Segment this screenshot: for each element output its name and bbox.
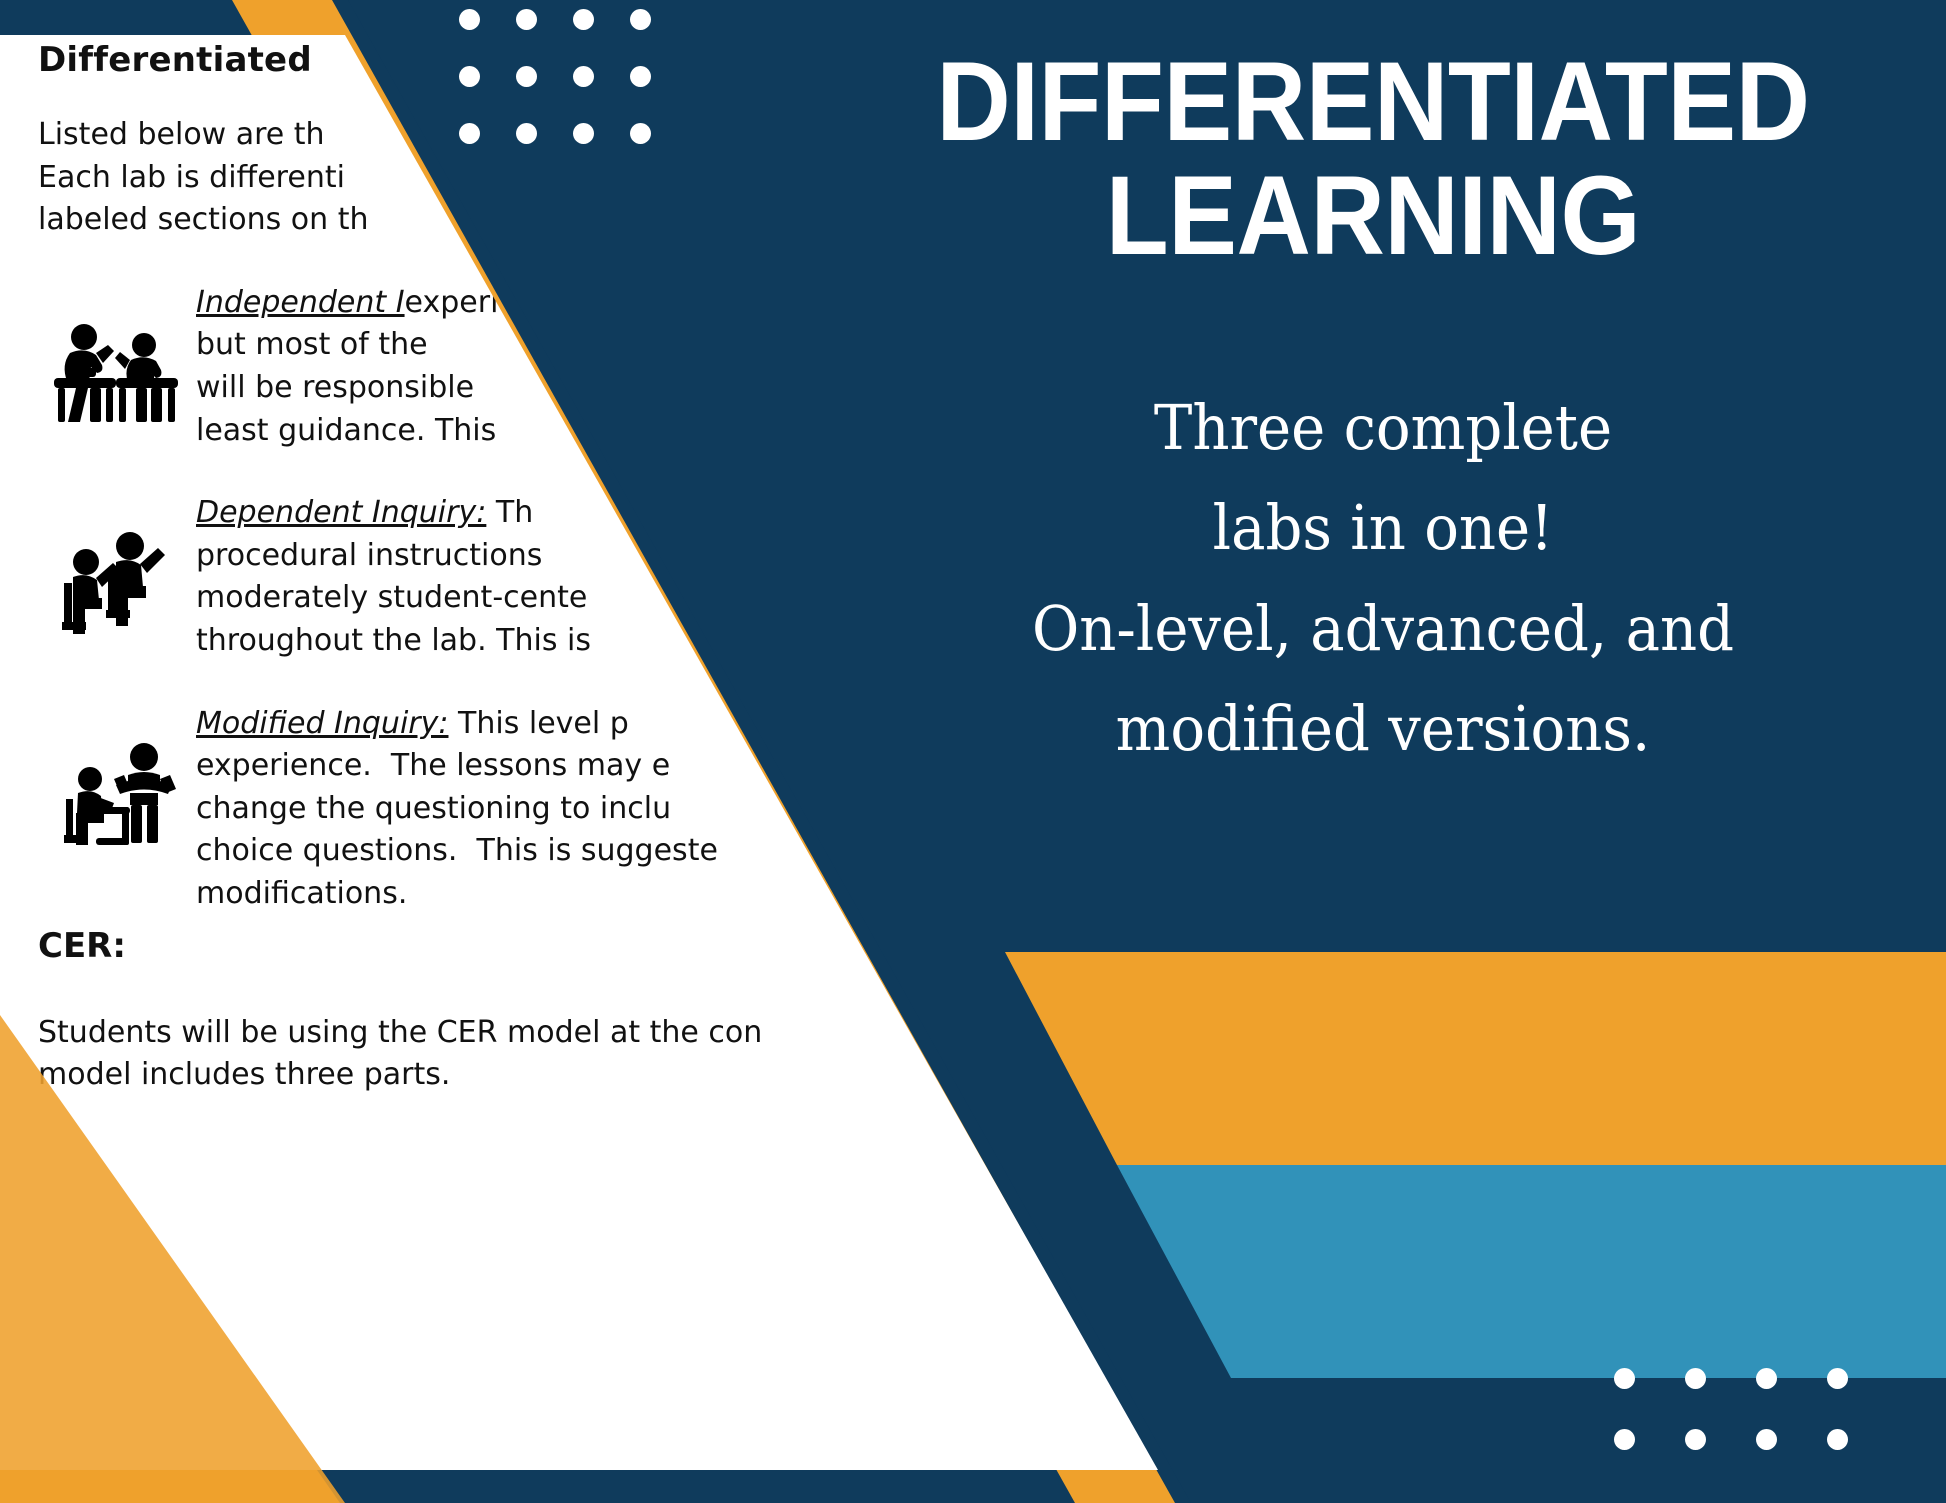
two-students-at-desks-icon [38, 282, 196, 424]
dot [516, 66, 537, 87]
subtitle-line-4: modified versions. [878, 679, 1888, 779]
dot [1614, 1429, 1635, 1450]
two-students-raising-hands-icon [38, 492, 196, 634]
dot [630, 123, 651, 144]
dot-grid-top [459, 0, 687, 180]
subtitle-line-1: Three complete [878, 378, 1888, 478]
dot [573, 9, 594, 30]
teacher-with-seated-student-icon [38, 703, 196, 845]
dot [459, 123, 480, 144]
dot [459, 9, 480, 30]
inquiry-label-modified: Modified Inquiry: [196, 706, 448, 741]
dot [573, 66, 594, 87]
dot [630, 9, 651, 30]
poster-canvas: Differentiated Listed below are th Each … [0, 0, 1946, 1503]
inquiry-text-modified: Modified Inquiry: This level p experienc… [196, 703, 718, 916]
inquiry-label-dependent: Dependent Inquiry: [196, 495, 486, 530]
dot [1827, 1368, 1848, 1389]
dot [630, 66, 651, 87]
headline-line-1: DIFFERENTIATED [936, 39, 1809, 164]
dot [516, 123, 537, 144]
dot [459, 66, 480, 87]
dot [1756, 1368, 1777, 1389]
subtitle: Three complete labs in one! On-level, ad… [878, 378, 1888, 780]
dot [1756, 1429, 1777, 1450]
dot [1614, 1368, 1635, 1389]
dot-grid-bottom [1614, 1368, 1898, 1490]
dot [1685, 1368, 1706, 1389]
inquiry-text-dependent: Dependent Inquiry: Th procedural instruc… [196, 492, 591, 662]
subtitle-line-3: On-level, advanced, and [878, 579, 1888, 679]
headline-line-2: LEARNING [864, 159, 1882, 273]
page-title: DIFFERENTIATED LEARNING [864, 45, 1882, 273]
dot [573, 123, 594, 144]
dot [516, 9, 537, 30]
inquiry-label-independent: Independent I [196, 285, 405, 320]
dot [1827, 1429, 1848, 1450]
subtitle-line-2: labs in one! [878, 478, 1888, 578]
dot [1685, 1429, 1706, 1450]
